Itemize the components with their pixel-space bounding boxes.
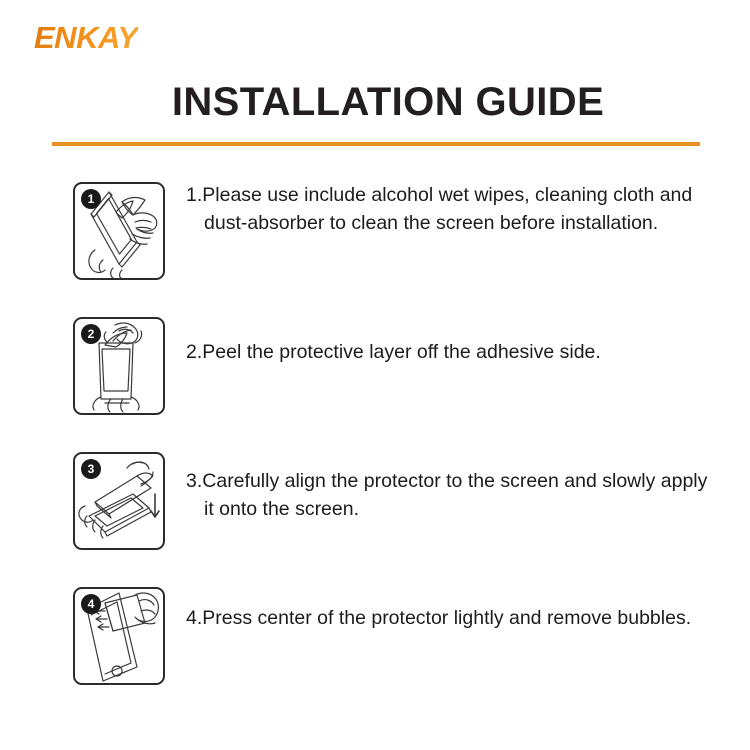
step-1-body: Please use include alcohol wet wipes, cl… <box>202 184 692 234</box>
step-2-text: 2.Peel the protective layer off the adhe… <box>186 339 698 367</box>
step-2-badge: 2 <box>81 324 101 344</box>
step-item: 4 <box>0 581 750 716</box>
step-3-marker: 3. <box>186 470 202 492</box>
step-3-body: Carefully align the protector to the scr… <box>202 470 707 520</box>
step-1-marker: 1. <box>186 184 202 206</box>
step-2-marker: 2. <box>186 341 202 363</box>
step-4-text: 4.Press center of the protector lightly … <box>186 605 706 633</box>
enkay-logo: ENKAY <box>34 22 138 53</box>
step-item: 1 <box>0 176 750 311</box>
steps-list: 1 <box>0 176 750 716</box>
step-3-text: 3.Carefully align the protector to the s… <box>186 468 716 523</box>
step-1-text: 1.Please use include alcohol wet wipes, … <box>186 182 698 237</box>
step-4-marker: 4. <box>186 607 202 629</box>
step-1-badge: 1 <box>81 189 101 209</box>
step-item: 3 <box>0 446 750 581</box>
step-3-badge: 3 <box>81 459 101 479</box>
step-2-body: Peel the protective layer off the adhesi… <box>202 341 601 363</box>
step-4-illustration: 4 <box>73 587 165 685</box>
step-4-badge: 4 <box>81 594 101 614</box>
step-4-body: Press center of the protector lightly an… <box>202 607 691 629</box>
step-2-illustration: 2 <box>73 317 165 415</box>
title-divider <box>52 142 700 146</box>
step-item: 2 <box>0 311 750 446</box>
step-1-illustration: 1 <box>73 182 165 280</box>
installation-guide-page: ENKAY INSTALLATION GUIDE 1 <box>0 0 750 750</box>
step-3-illustration: 3 <box>73 452 165 550</box>
page-title: INSTALLATION GUIDE <box>0 80 750 125</box>
